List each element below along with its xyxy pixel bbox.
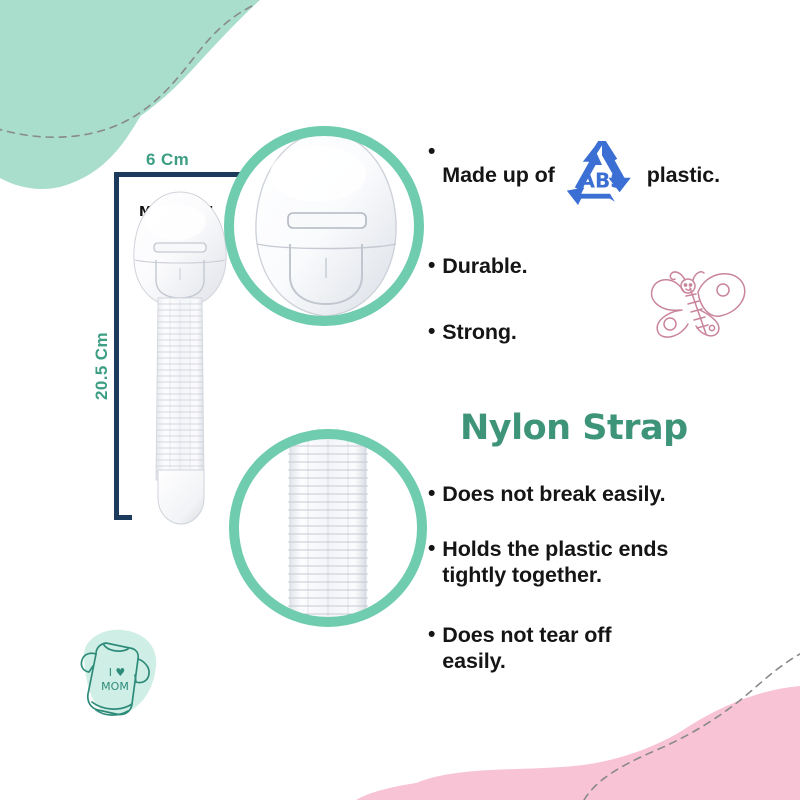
feature-strap-holds-ends: • Holds the plastic ends tightly togethe… xyxy=(428,537,788,589)
feature-durable-text: Durable. xyxy=(442,254,788,280)
feature-strong: • Strong. xyxy=(428,320,788,346)
feature-plastic-text-pre: Made up of xyxy=(442,163,554,189)
feature-strap-no-break-text: Does not break easily. xyxy=(442,482,788,508)
abs-symbol-label: ABS xyxy=(579,168,624,192)
bullet-dot: • xyxy=(428,140,435,164)
onesie-text-line2: MOM xyxy=(101,680,129,693)
feature-strap-no-break: • Does not break easily. xyxy=(428,482,788,508)
infographic-canvas: 6 Cm 20.5 Cm xyxy=(0,0,800,800)
onesie-text-line1: I ♥ xyxy=(109,666,126,679)
feature-strap-holds-ends-text: Holds the plastic ends tightly together. xyxy=(442,537,710,589)
lock-end-tab xyxy=(158,470,204,524)
feature-strong-text: Strong. xyxy=(442,320,788,346)
feature-plastic-text-post: plastic. xyxy=(647,163,720,189)
baby-onesie-icon: I ♥ MOM xyxy=(62,626,174,730)
lock-head-highlight xyxy=(146,204,206,240)
bullet-dot: • xyxy=(428,482,435,506)
feature-durable: • Durable. xyxy=(428,254,788,280)
pink-blob-sweep xyxy=(356,686,800,800)
magnifier-lock-head xyxy=(222,118,426,342)
lock-slot xyxy=(154,243,206,252)
magnifier-nylon-strap xyxy=(228,408,428,648)
features-column: • Made up of xyxy=(428,140,788,675)
magnified-head-highlight xyxy=(270,146,366,202)
feature-strap-no-tear-text: Does not tear off easily. xyxy=(442,623,662,675)
magnified-lock-slot xyxy=(288,213,366,228)
bullet-dot: • xyxy=(428,320,435,344)
abs-recycling-icon: ABS xyxy=(561,141,643,213)
bullet-dot: • xyxy=(428,623,435,647)
bullet-dot: • xyxy=(428,537,435,561)
feature-strap-no-tear: • Does not tear off easily. xyxy=(428,623,788,675)
bullet-dot: • xyxy=(428,254,435,278)
feature-plastic-material: • Made up of xyxy=(428,140,788,212)
section-title-nylon-strap: Nylon Strap xyxy=(460,408,788,448)
